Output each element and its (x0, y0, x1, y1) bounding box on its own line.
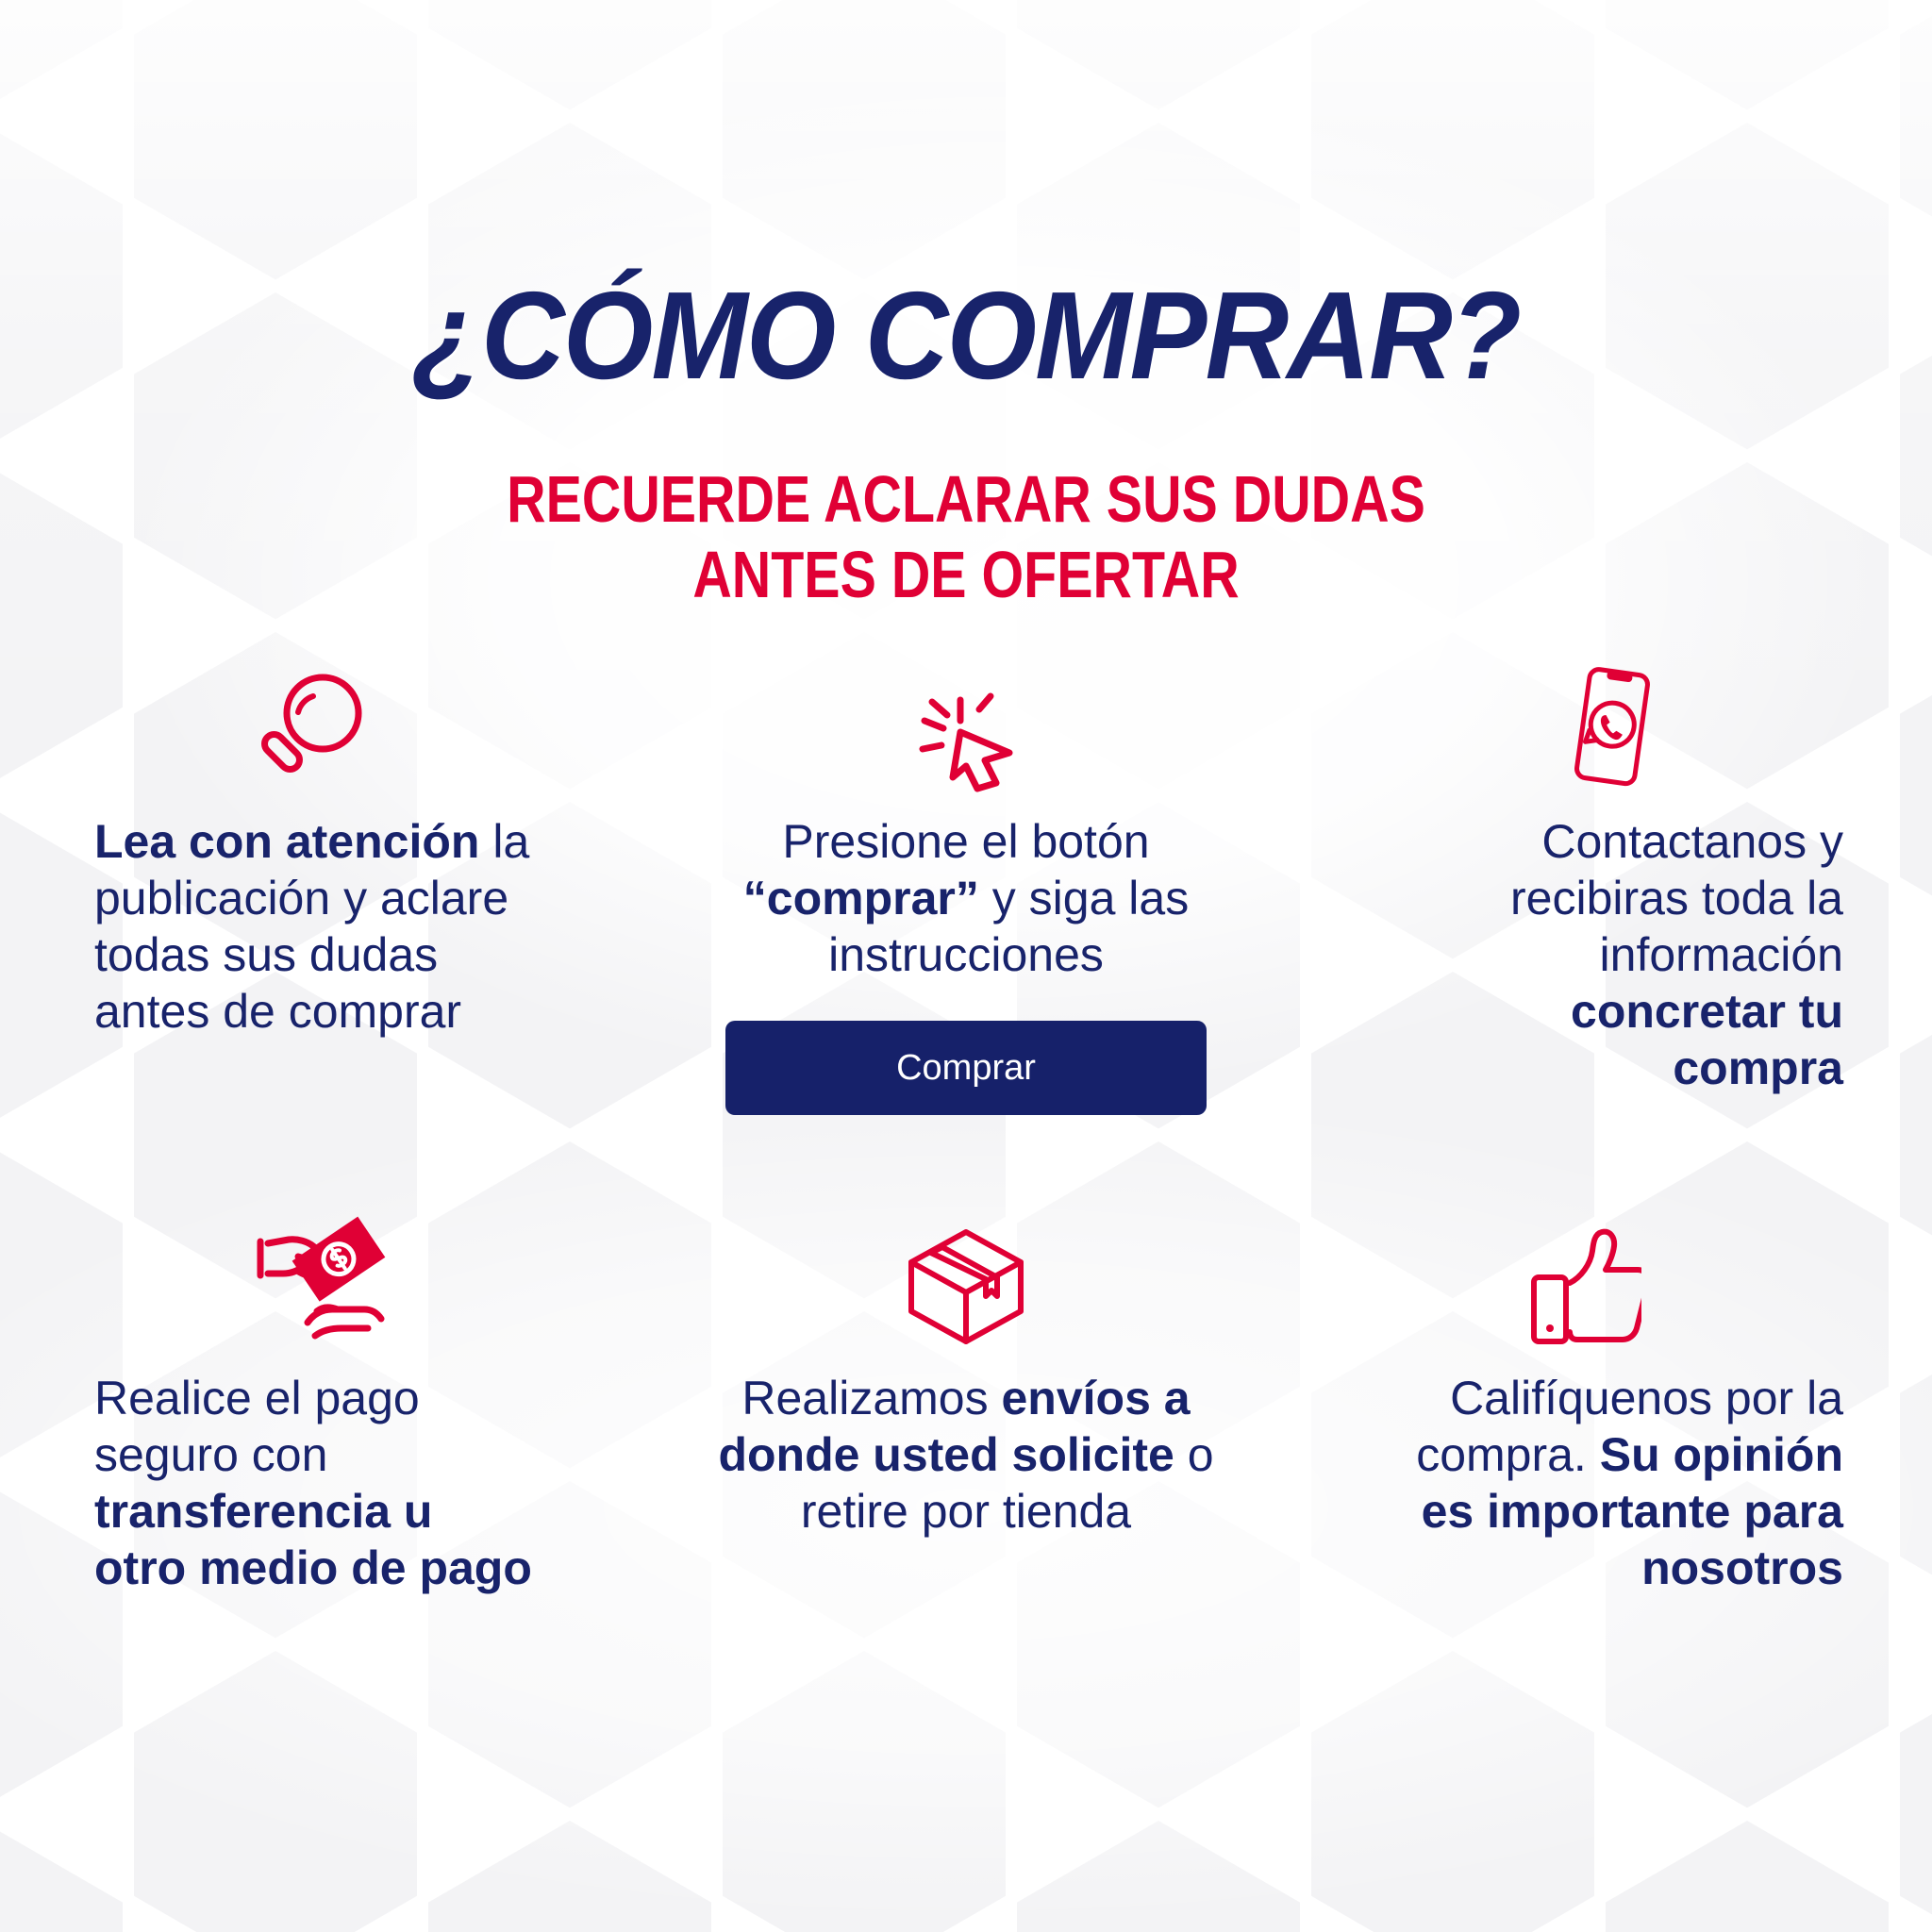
step-icon-slot (38, 1189, 657, 1349)
step-card-rate-us: Califíquenos por la compra. Su opinión e… (1275, 1189, 1894, 1679)
step-card-read-carefully: Lea con atención la publicación y aclare… (38, 660, 657, 1189)
shipping-box-icon (905, 1224, 1027, 1349)
click-cursor-icon (911, 683, 1021, 792)
step-text: Realizamos envíos a donde usted solicite… (657, 1349, 1275, 1540)
step-text: Lea con atención la publicación y aclare… (38, 792, 657, 1040)
cash-in-hand-icon (255, 1207, 396, 1349)
step-card-press-buy: Presione el botón “comprar” y siga las i… (657, 660, 1275, 1189)
step-text: Realice el pago seguro con transferencia… (38, 1349, 657, 1596)
page-title: ¿CÓMO COMPRAR? (68, 274, 1865, 398)
step-icon-slot (1275, 660, 1894, 792)
page-subtitle: RECUERDE ACLARAR SUS DUDAS ANTES DE OFER… (174, 462, 1757, 613)
step-card-contact-us: Contactanos y recibiras toda la informac… (1275, 660, 1894, 1189)
step-text-rich: Presione el botón “comprar” y siga las i… (743, 815, 1189, 981)
steps-row-1: Lea con atención la publicación y aclare… (38, 660, 1894, 1189)
step-text-rich: Realizamos envíos a donde usted solicite… (718, 1372, 1213, 1538)
step-card-secure-payment: Realice el pago seguro con transferencia… (38, 1189, 657, 1679)
magnifier-icon (255, 672, 368, 792)
page-subtitle-line-1: RECUERDE ACLARAR SUS DUDAS (507, 462, 1425, 536)
page-subtitle-line-2: ANTES DE OFERTAR (174, 538, 1757, 613)
step-text: Contactanos y recibiras toda la informac… (1275, 792, 1894, 1096)
step-text-rich: Contactanos y recibiras toda la informac… (1510, 815, 1843, 1094)
step-text: Califíquenos por la compra. Su opinión e… (1275, 1349, 1894, 1596)
step-icon-slot (1275, 1189, 1894, 1349)
step-icon-slot (657, 1189, 1275, 1349)
whatsapp-phone-icon (1555, 660, 1668, 792)
steps-grid: Lea con atención la publicación y aclare… (38, 660, 1894, 1679)
step-text-rich: Lea con atención la publicación y aclare… (94, 815, 529, 1038)
step-icon-slot (657, 660, 1275, 792)
comprar-button[interactable]: Comprar (725, 1021, 1207, 1115)
steps-row-2: Realice el pago seguro con transferencia… (38, 1189, 1894, 1679)
step-text-rich: Realice el pago seguro con transferencia… (94, 1372, 532, 1594)
step-card-shipping: Realizamos envíos a donde usted solicite… (657, 1189, 1275, 1679)
step-text-rich: Califíquenos por la compra. Su opinión e… (1416, 1372, 1843, 1594)
step-text: Presione el botón “comprar” y siga las i… (657, 792, 1275, 983)
step-icon-slot (38, 660, 657, 792)
thumbs-up-icon (1528, 1224, 1641, 1349)
